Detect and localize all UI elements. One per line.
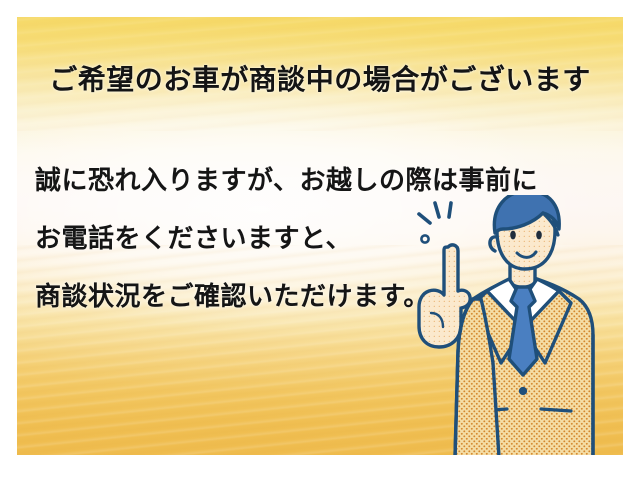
businessman-illustration — [413, 195, 623, 455]
eye-left — [510, 231, 516, 240]
banner-body-line-1: 誠に恐れ入りますが、お越しの際は事前に — [35, 160, 538, 197]
banner-image: ご希望のお車が商談中の場合がございます 誠に恐れ入りますが、お越しの際は事前に … — [0, 0, 640, 480]
banner-headline: ご希望のお車が商談中の場合がございます — [17, 58, 623, 98]
jacket-pocket-right — [541, 409, 571, 411]
banner-body-line-2: お電話をくださいますと、 — [35, 218, 352, 255]
banner-panel: ご希望のお車が商談中の場合がございます 誠に恐れ入りますが、お越しの際は事前に … — [17, 17, 623, 455]
jacket-button — [520, 388, 527, 395]
banner-body-line-3: 商談状況をご確認いただけます。 — [35, 276, 430, 313]
eye-right — [536, 231, 542, 240]
sparkle-marks — [419, 203, 451, 243]
necktie-shape — [509, 287, 537, 375]
